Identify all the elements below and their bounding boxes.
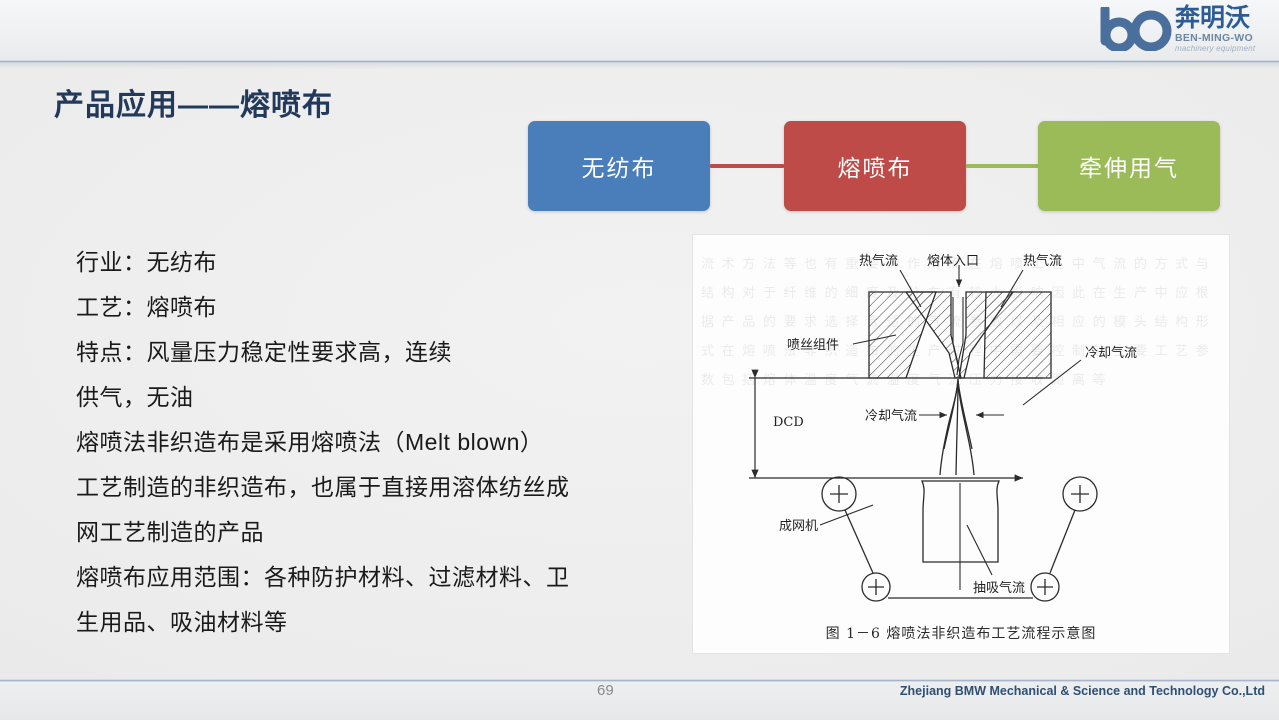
figure-label-cooling-air-center: 冷却气流 (865, 408, 917, 424)
body-line-4: 供气，无油 (76, 375, 676, 420)
figure-label-suction-air: 抽吸气流 (973, 580, 1025, 596)
body-line-5: 熔喷法非织造布是采用熔喷法（Melt blown） (76, 420, 676, 465)
flow-box-meltblown[interactable]: 熔喷布 (784, 121, 966, 211)
figure-label-dcd: DCD (773, 415, 804, 430)
flow-connector-2 (966, 164, 1038, 168)
meltblown-process-drawing: 热气流 熔体入口 热气流 喷丝组件 冷却气流 冷却气流 DCD 成网机 抽吸气流 (693, 235, 1229, 653)
figure-label-melt-inlet: 熔体入口 (927, 254, 979, 269)
body-line-2: 工艺：熔喷布 (76, 285, 676, 330)
body-line-1: 行业：无纺布 (76, 240, 676, 285)
process-flow-diagram: 无纺布 熔喷布 牵伸用气 (0, 0, 1279, 230)
body-line-6: 工艺制造的非织造布，也属于直接用溶体纺丝成 (76, 465, 676, 510)
body-line-3: 特点：风量压力稳定性要求高，连续 (76, 330, 676, 375)
process-figure-image: 流 术 方 法 等 也 有 重 要 的 作 用 而 在 熔 喷 工 艺 中 气 … (692, 234, 1230, 654)
figure-label-cooling-air-right: 冷却气流 (1085, 345, 1137, 361)
figure-label-hot-air-left: 热气流 (859, 253, 898, 269)
body-line-7: 网工艺制造的产品 (76, 510, 676, 555)
figure-label-hot-air-right: 热气流 (1023, 253, 1062, 269)
body-line-8: 熔喷布应用范围：各种防护材料、过滤材料、卫 (76, 555, 676, 600)
figure-label-web-former: 成网机 (779, 519, 818, 534)
figure-label-spinneret: 喷丝组件 (787, 338, 839, 353)
slide: 奔明沃 BEN-MING-WO machinery equipment 产品应用… (0, 0, 1279, 720)
body-text-block: 行业：无纺布 工艺：熔喷布 特点：风量压力稳定性要求高，连续 供气，无油 熔喷法… (76, 240, 676, 645)
flow-connector-1 (710, 164, 784, 168)
company-name-footer: Zhejiang BMW Mechanical & Science and Te… (900, 684, 1265, 698)
flow-box-nonwoven[interactable]: 无纺布 (528, 121, 710, 211)
page-number: 69 (597, 682, 614, 699)
body-line-9: 生用品、吸油材料等 (76, 600, 676, 645)
figure-caption: 图 1－6 熔喷法非织造布工艺流程示意图 (693, 623, 1229, 643)
flow-box-drawing-air[interactable]: 牵伸用气 (1038, 121, 1220, 211)
